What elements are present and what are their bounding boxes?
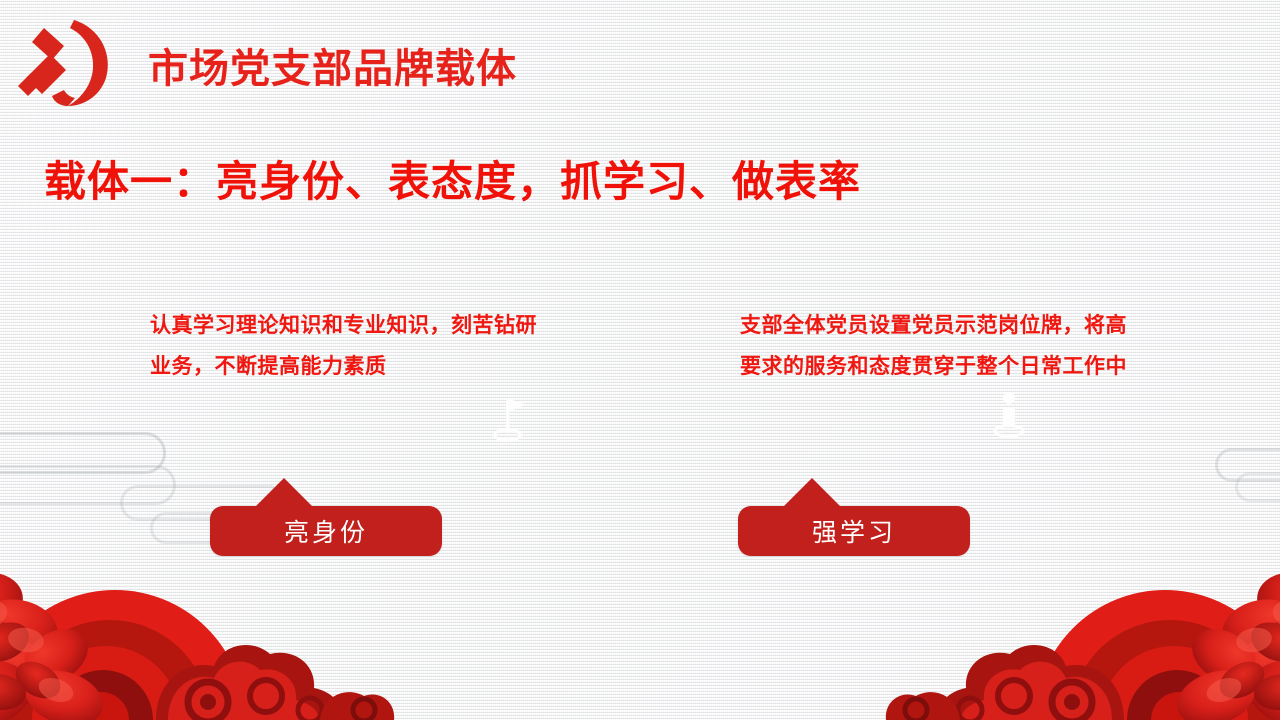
location-pin-person-icon <box>985 388 1033 444</box>
content-column-left: 认真学习理论知识和专业知识，刻苦钻研业务，不断提高能力素质 <box>150 305 540 387</box>
badge-liangshenfen[interactable]: 亮身份 <box>210 478 442 558</box>
section-subtitle: 载体一：亮身份、表态度，抓学习、做表率 <box>44 148 861 209</box>
badge-label: 亮身份 <box>210 506 442 556</box>
party-emblem-hammer-sickle-icon <box>14 14 118 110</box>
flag-icon <box>486 395 532 447</box>
content-column-right: 支部全体党员设置党员示范岗位牌，将高要求的服务和态度贯穿于整个日常工作中 <box>740 305 1130 387</box>
column-body-text: 支部全体党员设置党员示范岗位牌，将高要求的服务和态度贯穿于整个日常工作中 <box>740 305 1130 387</box>
badge-label: 强学习 <box>738 506 970 556</box>
column-body-text: 认真学习理论知识和专业知识，刻苦钻研业务，不断提高能力素质 <box>150 305 540 387</box>
badge-qiangxuexi[interactable]: 强学习 <box>738 478 970 558</box>
slide-canvas: 市场党支部品牌载体 载体一：亮身份、表态度，抓学习、做表率 认真学习理论知识和专… <box>0 0 1280 720</box>
page-title: 市场党支部品牌载体 <box>148 36 517 94</box>
cloud-pattern-watermark-6 <box>1235 472 1280 502</box>
